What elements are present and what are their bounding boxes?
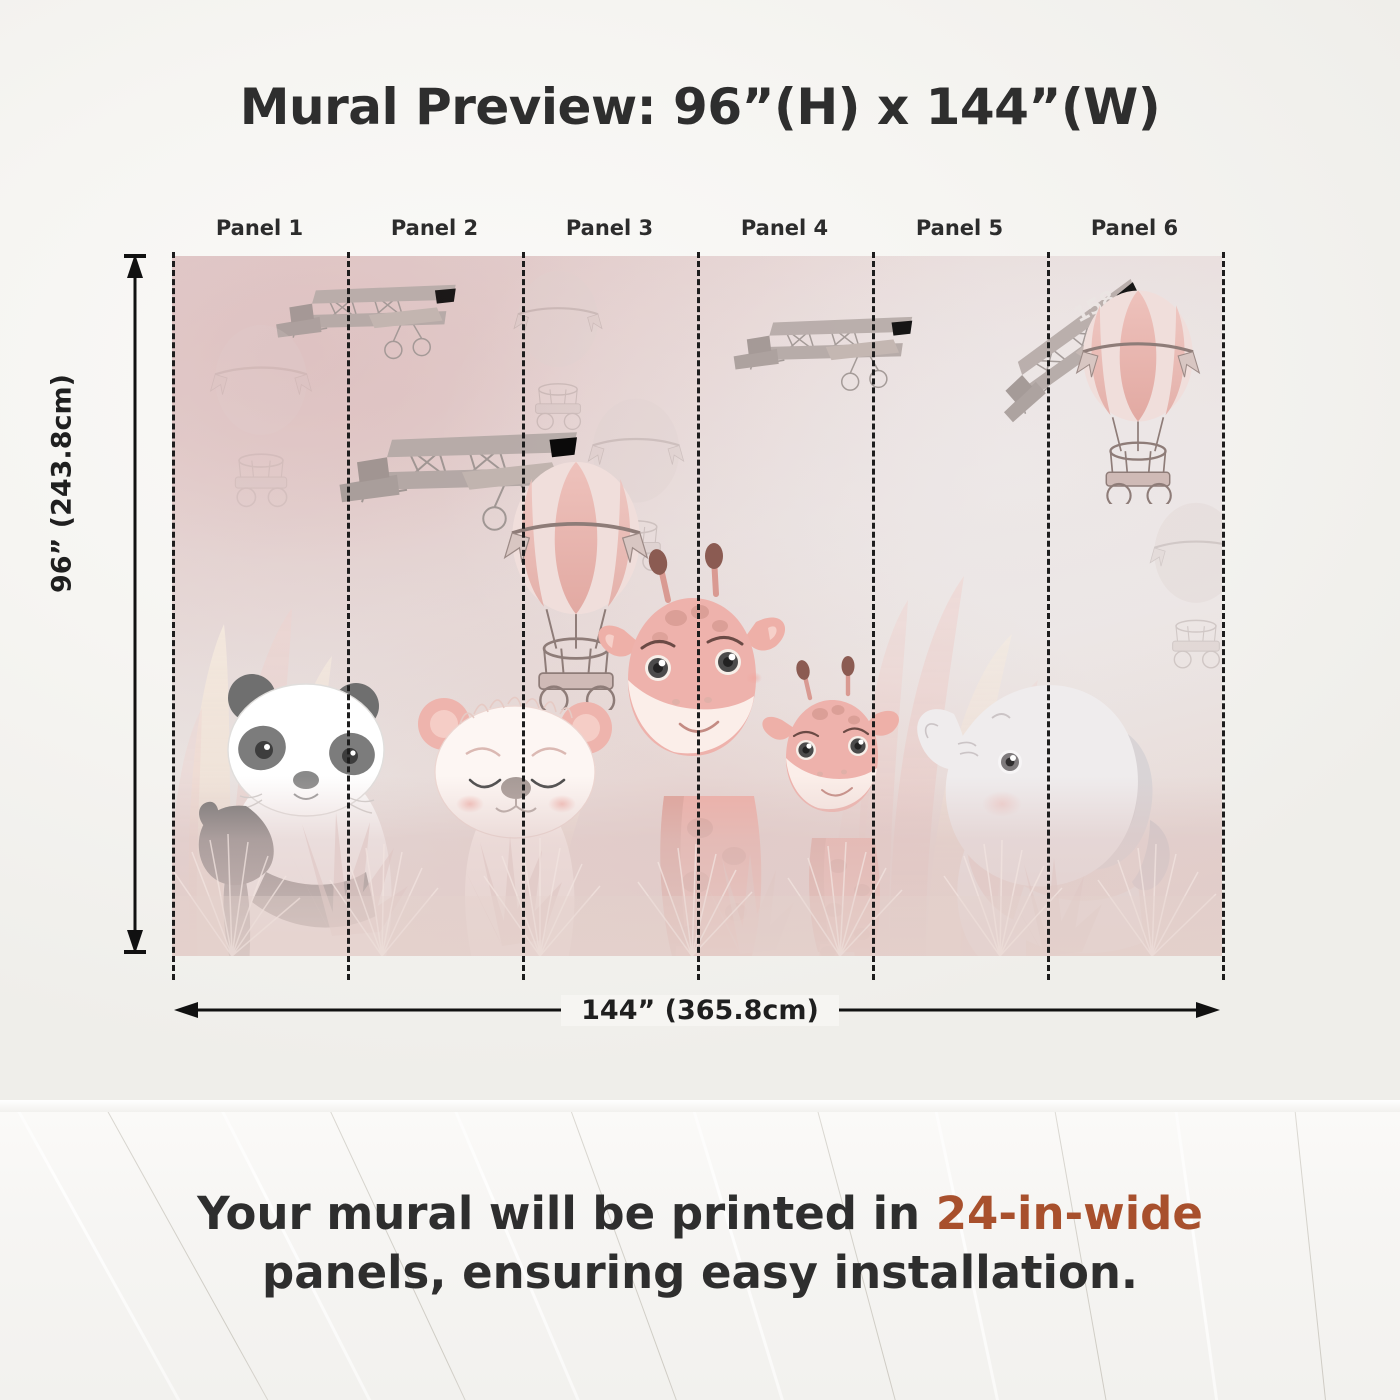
page-title: Mural Preview: 96”(H) x 144”(W) [0,78,1400,136]
panel-label-5: Panel 5 [872,210,1047,246]
height-dimension-arrow [112,252,158,956]
caption-lead: Your mural will be printed in [197,1187,936,1240]
panel-divider-5-6 [1047,252,1050,980]
caption-line-1: Your mural will be printed in 24-in-wide [0,1185,1400,1244]
footer-caption: Your mural will be printed in 24-in-wide… [0,1185,1400,1302]
panel-label-row: Panel 1 Panel 2 Panel 3 Panel 4 Panel 5 … [172,210,1222,246]
height-dimension-label: 96” (243.8cm) [47,364,78,604]
panel-divider-3-4 [697,252,700,980]
panel-label-2: Panel 2 [347,210,522,246]
caption-line-2: panels, ensuring easy installation. [0,1244,1400,1303]
panel-divider-1-2 [347,252,350,980]
width-dimension-label: 144” (365.8cm) [0,995,1400,1026]
panel-divider-2-3 [522,252,525,980]
panel-divider-4-5 [872,252,875,980]
panel-label-4: Panel 4 [697,210,872,246]
panel-label-6: Panel 6 [1047,210,1222,246]
width-dimension-text: 144” (365.8cm) [561,995,839,1026]
panel-divider-left-edge [172,252,175,980]
caption-accent: 24-in-wide [936,1187,1203,1240]
panel-label-3: Panel 3 [522,210,697,246]
panel-divider-right-edge [1222,252,1225,980]
panel-label-1: Panel 1 [172,210,347,246]
mural-preview-screenshot: Mural Preview: 96”(H) x 144”(W) Panel 1 … [0,0,1400,1400]
